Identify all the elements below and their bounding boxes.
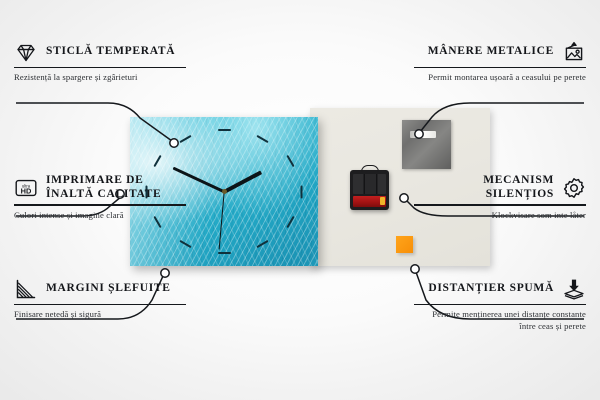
quartz-mechanism — [350, 170, 389, 210]
callout-subtitle: Klockvisare som inte låter — [414, 210, 586, 221]
diamond-icon — [14, 40, 38, 64]
battery-terminal — [380, 197, 385, 205]
metal-hanger-plate — [402, 120, 451, 169]
clock-center-pin — [222, 189, 227, 194]
callout-header: MARGINI ȘLEFUITE — [14, 277, 186, 301]
callout-tempered-glass[interactable]: STICLĂ TEMPERATĂ Rezistență la spargere … — [14, 40, 186, 84]
callout-divider — [14, 204, 186, 205]
callout-divider — [414, 67, 586, 68]
hour-marker — [300, 185, 302, 198]
callout-title: MECANISM SILENȚIOS — [414, 174, 554, 201]
callout-header: MÂNERE METALICE — [414, 40, 586, 64]
callout-subtitle: Finisare netedă și sigură — [14, 309, 186, 320]
callout-polished-edges[interactable]: MARGINI ȘLEFUITE Finisare netedă și sigu… — [14, 277, 186, 321]
ultra-hd-icon: ultra HD — [14, 176, 38, 200]
callout-divider — [414, 304, 586, 305]
hour-marker — [218, 252, 231, 254]
callout-silent-mechanism[interactable]: MECANISM SILENȚIOS Klockvisare som inte … — [414, 174, 586, 221]
press-down-icon — [562, 277, 586, 301]
picture-hanger-icon — [562, 40, 586, 64]
callout-header: MECANISM SILENȚIOS — [414, 174, 586, 201]
callout-header: STICLĂ TEMPERATĂ — [14, 40, 186, 64]
infographic-stage: STICLĂ TEMPERATĂ Rezistență la spargere … — [0, 0, 600, 400]
hanger-slot — [410, 131, 436, 138]
hour-marker — [218, 129, 231, 131]
callout-title: STICLĂ TEMPERATĂ — [46, 45, 175, 59]
callout-title: MARGINI ȘLEFUITE — [46, 282, 171, 296]
callout-title: DISTANȚIER SPUMĂ — [428, 282, 554, 296]
callout-high-quality-print[interactable]: ultra HD IMPRIMARE DE ÎNALTĂ CALITATE Cu… — [14, 174, 186, 221]
callout-header: ultra HD IMPRIMARE DE ÎNALTĂ CALITATE — [14, 174, 186, 201]
callout-subtitle: Culori intense și imagine clară — [14, 210, 186, 221]
polished-edge-icon — [14, 277, 38, 301]
callout-foam-spacer[interactable]: DISTANȚIER SPUMĂ Permite menținerea unei… — [414, 277, 586, 332]
callout-title: IMPRIMARE DE ÎNALTĂ CALITATE — [46, 174, 186, 201]
callout-divider — [414, 204, 586, 205]
connector-dot-foam-spacer — [411, 265, 419, 273]
callout-subtitle: Permite menținerea unei distanțe constan… — [414, 309, 586, 331]
mechanism-housing — [353, 174, 386, 194]
callout-subtitle: Rezistență la spargere și zgârieturi — [14, 72, 186, 83]
callout-metal-handles[interactable]: MÂNERE METALICE Permit montarea ușoară a… — [414, 40, 586, 84]
callout-subtitle: Permit montarea ușoară a ceasului pe per… — [414, 72, 586, 83]
callout-header: DISTANȚIER SPUMĂ — [414, 277, 586, 301]
svg-text:HD: HD — [21, 186, 32, 195]
orange-foam-spacer — [396, 236, 413, 253]
battery — [353, 196, 386, 207]
callout-divider — [14, 304, 186, 305]
callout-title: MÂNERE METALICE — [428, 45, 554, 59]
gear-icon — [562, 176, 586, 200]
mechanism-hook — [361, 165, 379, 174]
callout-divider — [14, 67, 186, 68]
connector-dot-polished-edges — [161, 269, 169, 277]
